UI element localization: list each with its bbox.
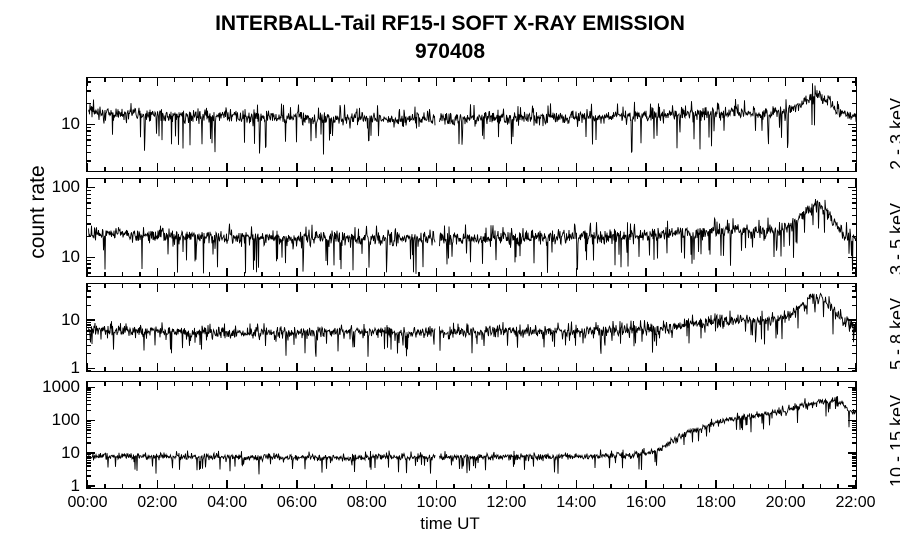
x-tick-minor — [663, 283, 664, 288]
y-tick-minor — [852, 215, 857, 216]
x-tick-minor — [523, 283, 524, 288]
x-tick-minor — [384, 178, 385, 183]
x-tick-minor — [680, 167, 681, 172]
y-tick-minor — [86, 437, 91, 438]
y-tick-label: 10 — [2, 311, 80, 328]
x-tick-minor — [122, 367, 123, 372]
x-tick-minor — [401, 77, 402, 82]
y-tick-major — [848, 420, 857, 421]
trace-3 — [87, 284, 857, 372]
x-tick-minor — [663, 484, 664, 489]
x-tick-minor — [750, 167, 751, 172]
y-tick-minor — [86, 442, 91, 443]
x-tick-major — [855, 77, 856, 86]
y-tick-minor — [86, 457, 91, 458]
x-tick-minor — [453, 178, 454, 183]
x-tick-minor — [680, 272, 681, 277]
x-tick-minor — [733, 178, 734, 183]
x-tick-minor — [104, 367, 105, 372]
y-tick-minor — [852, 103, 857, 104]
x-tick-minor — [384, 367, 385, 372]
y-tick-minor — [852, 345, 857, 346]
y-tick-label: 1 — [2, 477, 80, 494]
x-tick-major — [226, 268, 227, 277]
x-tick-major — [576, 480, 577, 489]
x-tick-minor — [558, 381, 559, 386]
x-tick-minor — [523, 272, 524, 277]
y-tick-minor — [86, 305, 91, 306]
x-tick-major — [785, 480, 786, 489]
x-tick-minor — [139, 381, 140, 386]
x-tick-minor — [401, 484, 402, 489]
y-tick-minor — [86, 194, 91, 195]
x-tick-major — [436, 77, 437, 86]
x-tick-minor — [314, 381, 315, 386]
x-tick-minor — [261, 178, 262, 183]
y-tick-minor — [852, 465, 857, 466]
y-tick-label: 10 — [2, 115, 80, 132]
x-tick-minor — [733, 272, 734, 277]
x-tick-minor — [209, 77, 210, 82]
x-tick-label: 22:00 — [816, 495, 896, 511]
x-tick-major — [366, 283, 367, 292]
x-tick-minor — [820, 178, 821, 183]
x-tick-minor — [453, 167, 454, 172]
x-tick-minor — [384, 272, 385, 277]
x-tick-major — [645, 381, 646, 390]
y-tick-minor — [852, 198, 857, 199]
y-tick-major — [86, 124, 95, 125]
x-tick-major — [87, 268, 88, 277]
y-tick-minor — [852, 260, 857, 261]
x-tick-minor — [541, 367, 542, 372]
x-tick-major — [296, 268, 297, 277]
x-tick-minor — [768, 178, 769, 183]
x-tick-minor — [541, 283, 542, 288]
chart-title: INTERBALL-Tail RF15-I SOFT X-RAY EMISSIO… — [0, 10, 900, 37]
x-tick-major — [366, 480, 367, 489]
x-tick-major — [855, 268, 856, 277]
y-tick-minor — [852, 208, 857, 209]
x-tick-minor — [680, 367, 681, 372]
x-tick-major — [366, 363, 367, 372]
y-tick-minor — [86, 135, 91, 136]
x-tick-minor — [750, 178, 751, 183]
y-tick-minor — [852, 145, 857, 146]
x-tick-minor — [733, 484, 734, 489]
x-tick-minor — [192, 367, 193, 372]
y-tick-minor — [86, 345, 91, 346]
y-tick-minor — [852, 462, 857, 463]
y-tick-minor — [852, 475, 857, 476]
y-tick-minor — [852, 339, 857, 340]
y-tick-minor — [852, 135, 857, 136]
y-tick-minor — [86, 145, 91, 146]
x-tick-minor — [471, 272, 472, 277]
x-tick-minor — [820, 77, 821, 82]
x-tick-minor — [558, 77, 559, 82]
y-tick-minor — [86, 160, 91, 161]
x-tick-minor — [209, 367, 210, 372]
y-tick-minor — [852, 127, 857, 128]
x-tick-minor — [331, 77, 332, 82]
y-tick-minor — [86, 475, 91, 476]
x-tick-major — [645, 268, 646, 277]
x-tick-major — [157, 77, 158, 86]
x-tick-minor — [401, 367, 402, 372]
y-tick-minor — [852, 236, 857, 237]
x-tick-minor — [471, 178, 472, 183]
x-tick-minor — [610, 367, 611, 372]
y-tick-minor — [852, 353, 857, 354]
x-tick-minor — [453, 272, 454, 277]
x-tick-minor — [279, 178, 280, 183]
x-tick-minor — [750, 381, 751, 386]
y-tick-minor — [852, 456, 857, 457]
y-tick-minor — [852, 263, 857, 264]
y-axis-label: count rate — [26, 112, 50, 312]
x-tick-minor — [837, 77, 838, 82]
x-tick-minor — [733, 283, 734, 288]
x-tick-major — [855, 480, 856, 489]
x-tick-minor — [802, 283, 803, 288]
x-tick-minor — [837, 178, 838, 183]
x-tick-minor — [523, 167, 524, 172]
x-tick-major — [506, 178, 507, 187]
x-tick-major — [366, 163, 367, 172]
y-tick-major — [848, 452, 857, 453]
x-tick-minor — [349, 272, 350, 277]
x-tick-minor — [418, 283, 419, 288]
x-tick-minor — [418, 367, 419, 372]
x-tick-minor — [279, 484, 280, 489]
x-tick-minor — [628, 77, 629, 82]
x-tick-major — [715, 163, 716, 172]
x-tick-major — [296, 178, 297, 187]
x-tick-major — [87, 163, 88, 172]
x-tick-major — [645, 283, 646, 292]
x-tick-minor — [384, 77, 385, 82]
y-tick-minor — [86, 236, 91, 237]
x-tick-major — [855, 163, 856, 172]
x-tick-minor — [471, 484, 472, 489]
x-tick-minor — [523, 178, 524, 183]
x-tick-major — [226, 381, 227, 390]
x-tick-minor — [174, 381, 175, 386]
y-tick-minor — [852, 427, 857, 428]
y-tick-minor — [852, 296, 857, 297]
x-tick-minor — [628, 272, 629, 277]
x-tick-minor — [331, 367, 332, 372]
x-tick-major — [785, 178, 786, 187]
x-tick-major — [296, 77, 297, 86]
x-tick-major — [87, 480, 88, 489]
x-tick-minor — [244, 283, 245, 288]
x-tick-major — [226, 178, 227, 187]
x-tick-minor — [837, 367, 838, 372]
x-tick-minor — [663, 272, 664, 277]
x-tick-minor — [244, 272, 245, 277]
x-tick-minor — [314, 367, 315, 372]
x-tick-major — [226, 163, 227, 172]
y-tick-minor — [86, 392, 91, 393]
x-tick-minor — [139, 484, 140, 489]
y-tick-minor — [852, 194, 857, 195]
x-tick-minor — [663, 167, 664, 172]
x-tick-minor — [768, 367, 769, 372]
x-tick-minor — [541, 167, 542, 172]
y-tick-minor — [852, 139, 857, 140]
y-tick-minor — [86, 423, 91, 424]
x-tick-major — [785, 268, 786, 277]
x-tick-minor — [837, 484, 838, 489]
x-tick-major — [506, 268, 507, 277]
y-tick-minor — [86, 190, 91, 191]
x-tick-minor — [314, 484, 315, 489]
x-tick-minor — [523, 77, 524, 82]
chart-panel-5to8keV — [86, 283, 857, 372]
x-tick-major — [506, 283, 507, 292]
x-tick-major — [576, 77, 577, 86]
x-tick-major — [785, 163, 786, 172]
y-tick-minor — [86, 322, 91, 323]
x-tick-minor — [541, 178, 542, 183]
x-tick-minor — [802, 367, 803, 372]
x-tick-minor — [418, 484, 419, 489]
x-tick-minor — [331, 272, 332, 277]
x-tick-minor — [139, 272, 140, 277]
x-tick-minor — [698, 367, 699, 372]
x-tick-major — [226, 283, 227, 292]
y-tick-minor — [852, 330, 857, 331]
y-tick-minor — [86, 296, 91, 297]
x-tick-minor — [122, 77, 123, 82]
y-tick-minor — [852, 470, 857, 471]
y-tick-minor — [86, 90, 91, 91]
x-tick-minor — [680, 484, 681, 489]
x-tick-minor — [122, 484, 123, 489]
x-tick-label: 18:00 — [676, 495, 756, 511]
x-tick-minor — [174, 178, 175, 183]
y-tick-minor — [86, 139, 91, 140]
x-tick-minor — [261, 381, 262, 386]
x-tick-minor — [663, 367, 664, 372]
x-tick-minor — [453, 367, 454, 372]
x-tick-minor — [331, 484, 332, 489]
x-tick-minor — [698, 283, 699, 288]
x-tick-minor — [558, 367, 559, 372]
x-tick-minor — [488, 484, 489, 489]
y-tick-minor — [86, 263, 91, 264]
x-tick-minor — [610, 77, 611, 82]
x-tick-minor — [733, 381, 734, 386]
x-tick-minor — [314, 77, 315, 82]
x-tick-minor — [314, 178, 315, 183]
x-tick-major — [366, 381, 367, 390]
x-tick-major — [855, 178, 856, 187]
x-tick-minor — [558, 484, 559, 489]
x-tick-minor — [261, 77, 262, 82]
x-tick-minor — [418, 167, 419, 172]
x-tick-minor — [349, 484, 350, 489]
figure-root: INTERBALL-Tail RF15-I SOFT X-RAY EMISSIO… — [0, 0, 900, 548]
x-tick-minor — [471, 381, 472, 386]
x-tick-minor — [401, 178, 402, 183]
x-tick-minor — [244, 367, 245, 372]
x-tick-minor — [279, 272, 280, 277]
x-tick-major — [785, 381, 786, 390]
x-tick-minor — [104, 167, 105, 172]
x-tick-minor — [471, 367, 472, 372]
x-tick-major — [576, 178, 577, 187]
x-tick-minor — [698, 77, 699, 82]
x-tick-minor — [837, 272, 838, 277]
x-tick-minor — [593, 167, 594, 172]
chart-title-block: INTERBALL-Tail RF15-I SOFT X-RAY EMISSIO… — [0, 10, 900, 66]
x-tick-minor — [820, 367, 821, 372]
x-tick-minor — [593, 178, 594, 183]
x-tick-minor — [820, 381, 821, 386]
x-tick-major — [366, 77, 367, 86]
x-tick-minor — [628, 367, 629, 372]
y-tick-minor — [852, 305, 857, 306]
x-tick-minor — [523, 367, 524, 372]
x-tick-minor — [384, 381, 385, 386]
trace-4 — [87, 382, 857, 489]
x-tick-minor — [610, 381, 611, 386]
y-tick-minor — [852, 421, 857, 422]
x-tick-minor — [733, 77, 734, 82]
x-tick-minor — [802, 167, 803, 172]
x-tick-minor — [680, 283, 681, 288]
y-tick-minor — [852, 460, 857, 461]
x-tick-minor — [174, 77, 175, 82]
x-tick-minor — [558, 167, 559, 172]
x-tick-minor — [122, 381, 123, 386]
x-tick-minor — [750, 283, 751, 288]
x-tick-minor — [418, 178, 419, 183]
y-tick-minor — [86, 215, 91, 216]
x-tick-major — [715, 381, 716, 390]
x-tick-major — [87, 363, 88, 372]
x-tick-minor — [471, 77, 472, 82]
x-tick-minor — [663, 77, 664, 82]
x-tick-minor — [261, 283, 262, 288]
x-tick-major — [645, 178, 646, 187]
x-tick-minor — [628, 484, 629, 489]
x-tick-minor — [139, 178, 140, 183]
x-tick-label: 00:00 — [48, 495, 128, 511]
y-tick-minor — [86, 465, 91, 466]
x-tick-minor — [192, 381, 193, 386]
x-tick-major — [436, 480, 437, 489]
x-tick-minor — [104, 178, 105, 183]
x-tick-label: 08:00 — [327, 495, 407, 511]
y-tick-minor — [86, 454, 91, 455]
x-tick-minor — [104, 283, 105, 288]
y-tick-minor — [86, 208, 91, 209]
y-tick-minor — [86, 353, 91, 354]
x-tick-minor — [698, 178, 699, 183]
x-tick-major — [87, 77, 88, 86]
x-tick-minor — [802, 272, 803, 277]
x-tick-major — [715, 363, 716, 372]
x-tick-major — [855, 363, 856, 372]
x-tick-label: 20:00 — [746, 495, 826, 511]
x-tick-minor — [453, 283, 454, 288]
y-tick-major — [86, 452, 95, 453]
x-tick-minor — [104, 77, 105, 82]
x-tick-minor — [279, 167, 280, 172]
x-tick-label: 10:00 — [397, 495, 477, 511]
y-tick-minor — [86, 223, 91, 224]
x-tick-major — [645, 480, 646, 489]
y-tick-major — [848, 124, 857, 125]
x-tick-minor — [680, 381, 681, 386]
x-tick-major — [366, 178, 367, 187]
x-tick-major — [157, 178, 158, 187]
y-tick-minor — [852, 394, 857, 395]
x-tick-minor — [453, 381, 454, 386]
y-tick-minor — [86, 400, 91, 401]
x-tick-minor — [471, 283, 472, 288]
x-tick-major — [715, 178, 716, 187]
y-tick-label: 1000 — [2, 378, 80, 395]
x-tick-minor — [471, 167, 472, 172]
x-tick-major — [87, 283, 88, 292]
y-tick-minor — [852, 429, 857, 430]
x-tick-minor — [349, 283, 350, 288]
y-tick-minor — [86, 103, 91, 104]
y-tick-minor — [86, 397, 91, 398]
x-tick-minor — [541, 77, 542, 82]
x-tick-minor — [122, 272, 123, 277]
x-tick-major — [506, 381, 507, 390]
y-tick-minor — [852, 425, 857, 426]
y-tick-minor — [852, 397, 857, 398]
y-tick-major — [848, 257, 857, 258]
y-tick-minor — [86, 202, 91, 203]
x-tick-minor — [733, 367, 734, 372]
x-tick-minor — [418, 77, 419, 82]
x-tick-minor — [244, 167, 245, 172]
x-tick-minor — [837, 381, 838, 386]
x-tick-label: 06:00 — [257, 495, 337, 511]
x-tick-major — [715, 77, 716, 86]
x-tick-minor — [558, 283, 559, 288]
x-tick-minor — [453, 484, 454, 489]
x-tick-minor — [768, 283, 769, 288]
x-tick-major — [226, 480, 227, 489]
x-tick-major — [785, 77, 786, 86]
x-tick-minor — [401, 381, 402, 386]
x-tick-minor — [488, 77, 489, 82]
x-tick-minor — [768, 484, 769, 489]
x-tick-major — [576, 363, 577, 372]
y-tick-minor — [852, 324, 857, 325]
x-tick-major — [645, 77, 646, 86]
y-tick-minor — [852, 130, 857, 131]
x-tick-minor — [820, 272, 821, 277]
x-tick-major — [436, 178, 437, 187]
x-tick-minor — [733, 167, 734, 172]
y-tick-minor — [86, 394, 91, 395]
x-tick-minor — [174, 167, 175, 172]
y-tick-minor — [86, 130, 91, 131]
y-tick-minor — [86, 324, 91, 325]
x-tick-minor — [349, 381, 350, 386]
x-tick-minor — [628, 178, 629, 183]
